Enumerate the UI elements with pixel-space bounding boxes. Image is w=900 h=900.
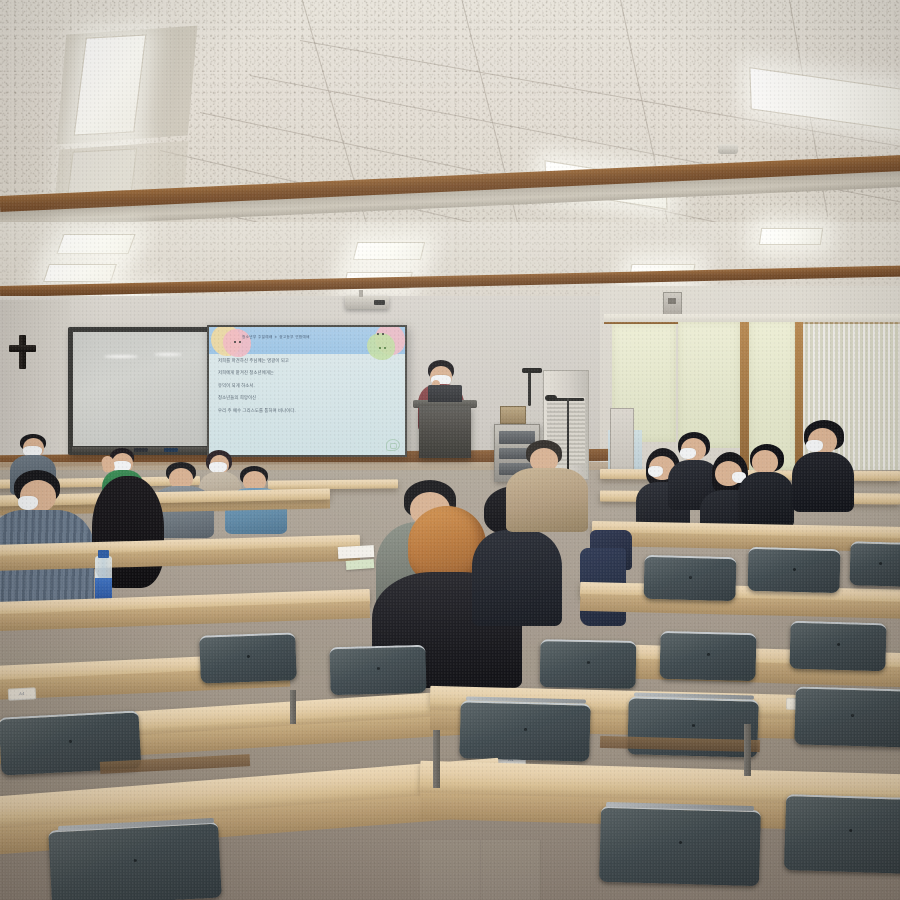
gooseneck-lamp-head: [522, 368, 542, 373]
slide-body: 저희를 파견하신 주님께는 영광이 되고 저희에게 맡겨진 청소년에게는 유익이…: [218, 359, 397, 421]
window-blind-2: [678, 322, 740, 448]
attendee-tan-jacket: [506, 440, 588, 532]
attendee-mask: [648, 466, 663, 477]
wall-cross-icon: [19, 335, 26, 369]
window-blind-valance: [604, 314, 900, 322]
decor-blob-green-right: [367, 333, 395, 360]
floor-tile: [420, 840, 481, 900]
projection-screen: 청소년부 주일예배 ＊ 중고등부 연합예배 저희를 파견하신 주님께는 영광이 …: [207, 325, 407, 457]
paper-handout: [338, 545, 375, 559]
desk-leg: [290, 690, 296, 724]
ceiling-projector: [345, 296, 389, 309]
chair: [599, 806, 761, 886]
attendee-torso: [738, 472, 794, 528]
chair: [789, 621, 886, 672]
paper-handout: [346, 559, 375, 570]
chair: [643, 555, 736, 601]
attendee-far-right-window: [792, 420, 854, 512]
chair: [540, 639, 637, 689]
chair: [784, 794, 900, 874]
desk-label: A4: [8, 687, 37, 700]
ceiling-light-6: [43, 264, 117, 282]
desk-leg: [744, 724, 751, 776]
wall-speaker: [663, 292, 682, 315]
chair: [747, 547, 840, 593]
whiteboard: [68, 327, 214, 455]
slide-line: 저희를 파견하신 주님께는 영광이 되고: [218, 359, 397, 363]
ceiling-light-10: [759, 228, 823, 245]
slide-title: 청소년부 주일예배 ＊ 중고등부 연합예배: [242, 335, 310, 340]
microphone-icon: [545, 395, 557, 401]
wall-cross-icon: [9, 345, 36, 352]
far-door: [610, 408, 634, 472]
slide-line: 유익이 되게 하소서.: [218, 384, 397, 388]
presentation-slide: 청소년부 주일예배 ＊ 중고등부 연합예배 저희를 파견하신 주님께는 영광이 …: [209, 327, 405, 455]
lecture-hall-photo: 청소년부 주일예배 ＊ 중고등부 연합예배 저희를 파견하신 주님께는 영광이 …: [0, 0, 900, 900]
attendee-mask: [18, 496, 38, 510]
attendee-torso: [472, 530, 562, 626]
attendee-right-4: [738, 444, 794, 530]
chair: [329, 645, 426, 695]
av-amplifier: [500, 406, 526, 424]
chair: [794, 686, 900, 747]
gooseneck-lamp: [528, 372, 531, 406]
attendee-torso: [506, 468, 588, 532]
laptop: [428, 385, 462, 402]
chair: [659, 631, 756, 681]
attendee-head: [752, 450, 778, 474]
slide-line: 저희에게 맡겨진 청소년에게는: [218, 371, 397, 375]
decor-blob-pink: [223, 329, 251, 357]
chair: [48, 822, 222, 900]
floor-tile: [480, 840, 541, 900]
attendee-mask: [680, 448, 696, 459]
ceiling-light-1: [74, 34, 147, 135]
ceiling-light-7: [353, 242, 425, 260]
water-bottle-cap: [98, 550, 109, 558]
desk-leg: [433, 730, 440, 788]
ceiling-light-5: [56, 234, 135, 254]
chair: [459, 700, 590, 761]
slide-logo-icon: [386, 439, 400, 451]
slide-line: 청소년들의 희망이신: [218, 396, 397, 400]
attendee-torso: [792, 452, 854, 512]
slide-line: 우리 주 예수 그리스도를 통하여 비나이다.: [218, 409, 397, 413]
podium: [419, 406, 471, 458]
attendee-mask: [806, 440, 823, 452]
chair: [199, 632, 297, 683]
chair: [849, 541, 900, 587]
smoke-detector-icon: [718, 144, 738, 154]
